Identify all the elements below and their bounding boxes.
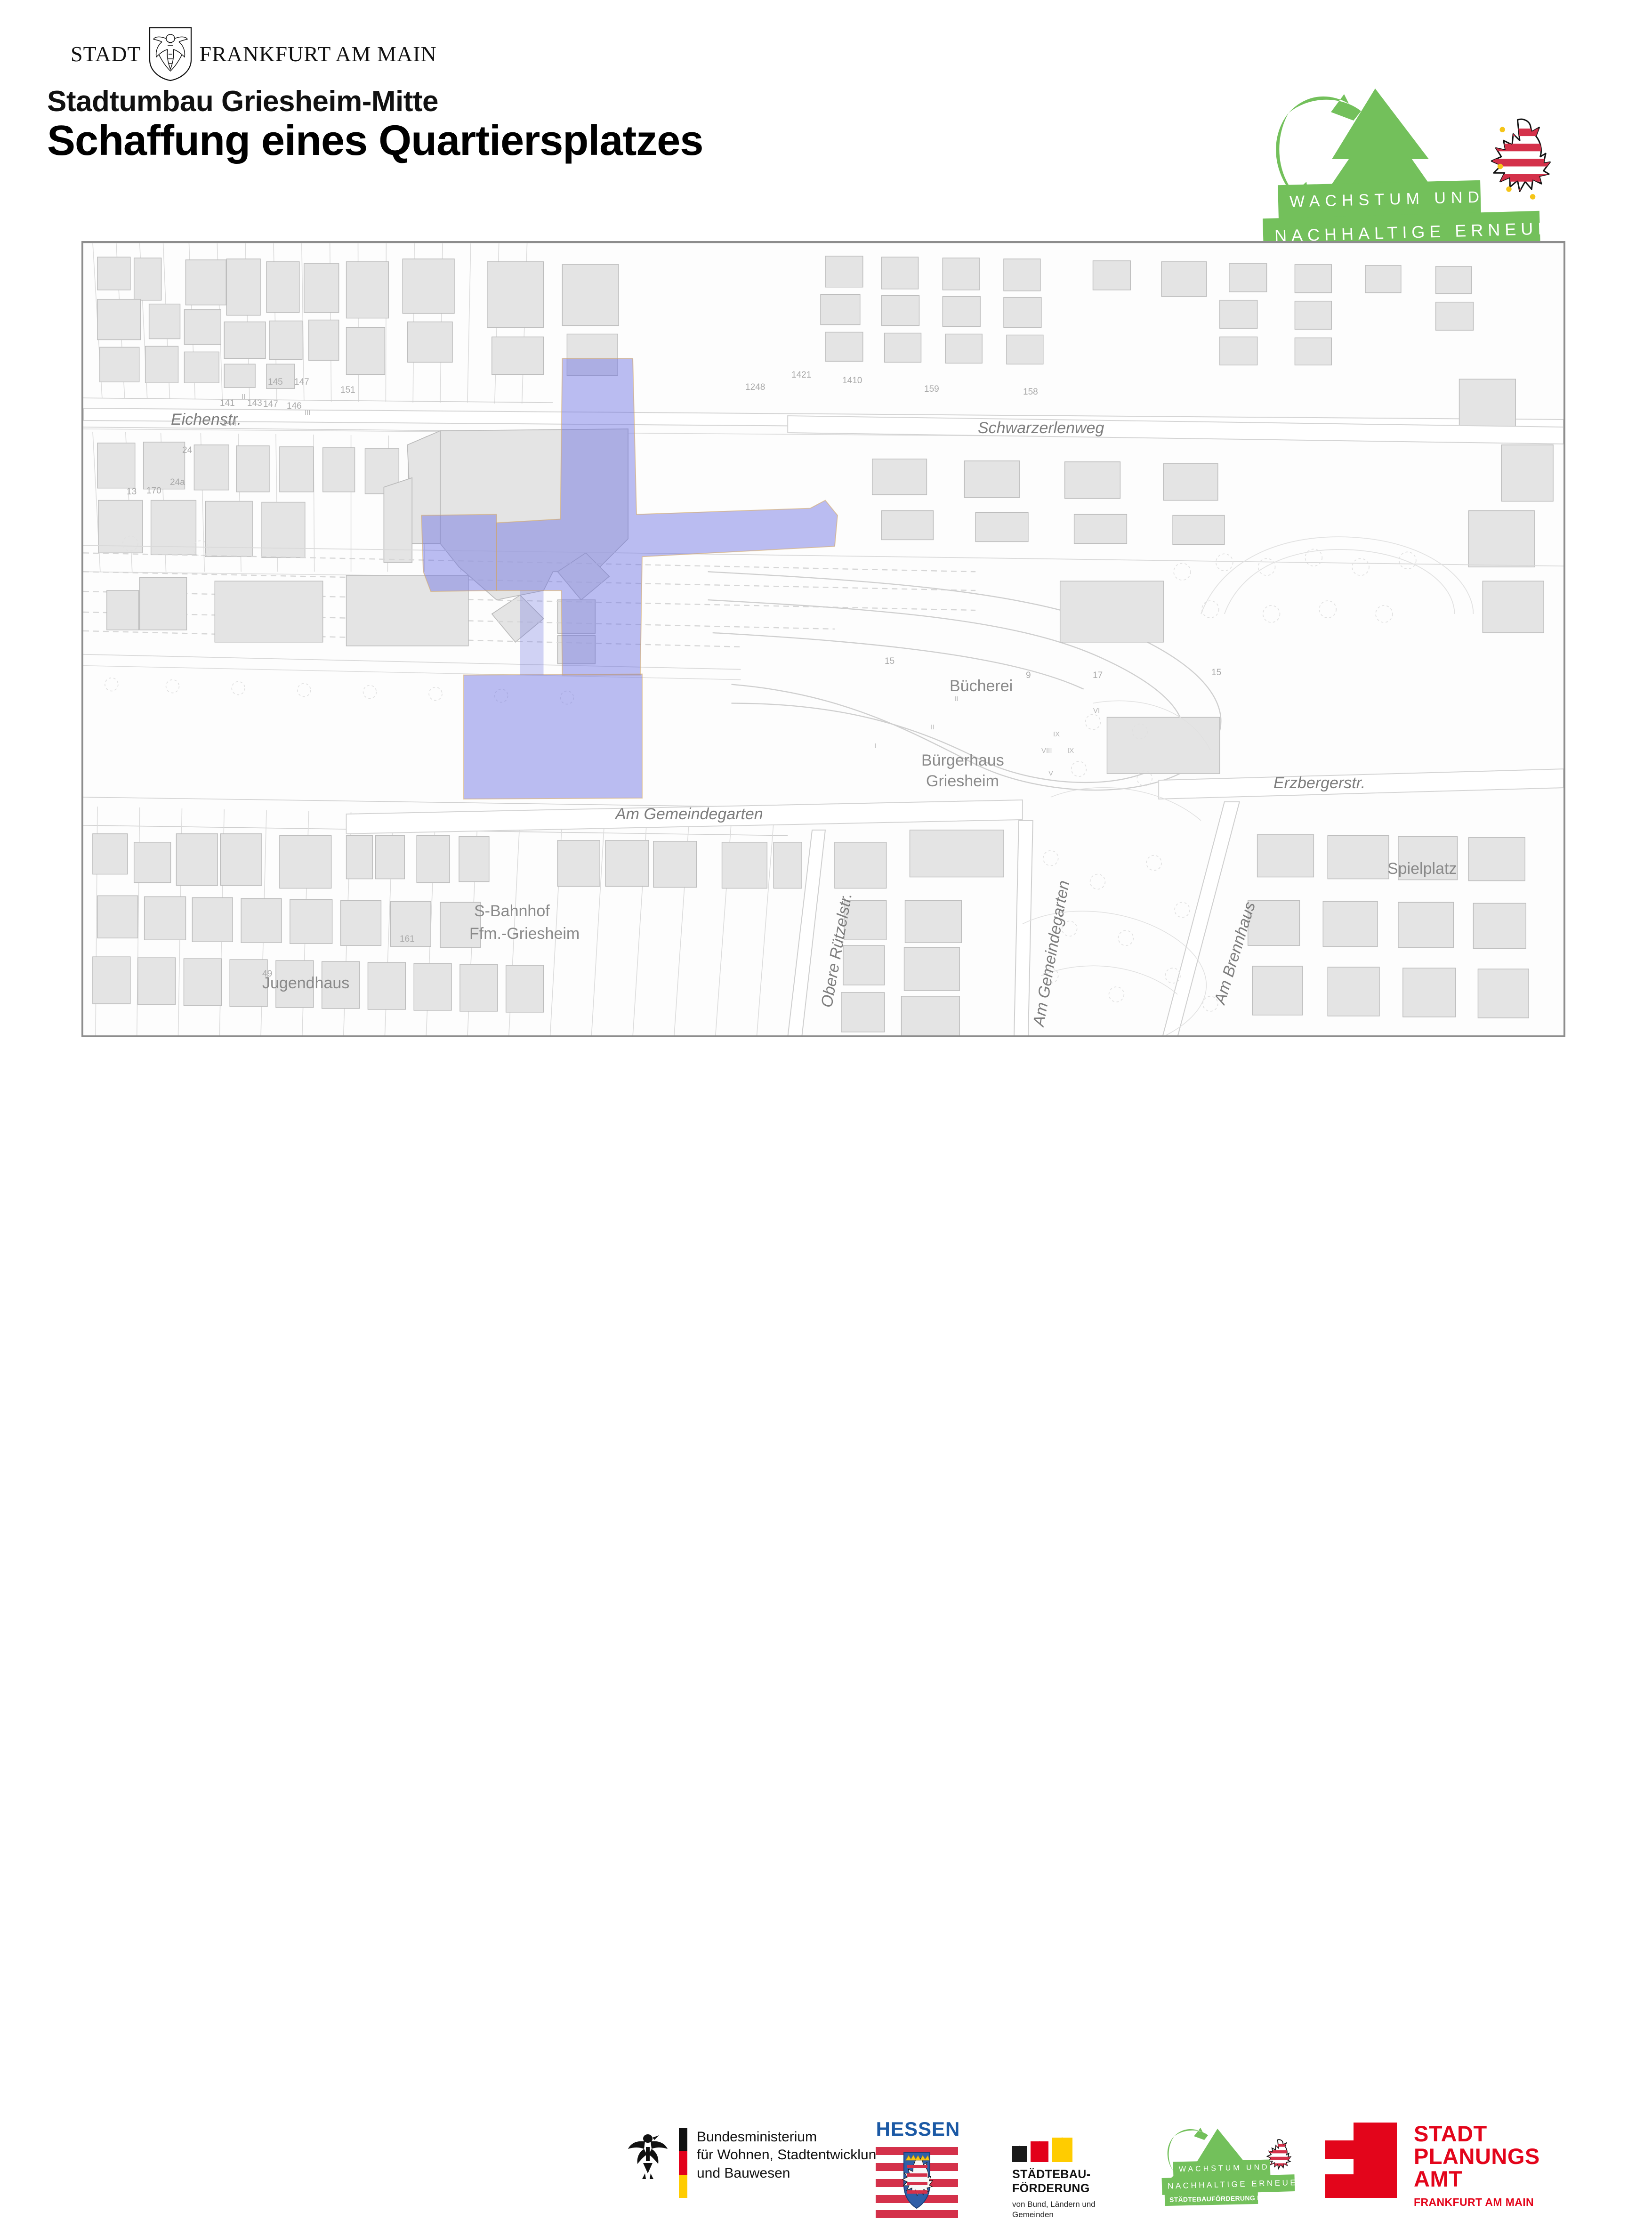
three-houses-icon	[1012, 2123, 1130, 2162]
city-logo-word-stadt: STADT	[71, 41, 141, 66]
bmwsb-logo: Bundesministerium für Wohnen, Stadtentwi…	[626, 2128, 884, 2198]
wachstum-small-line3: STÄDTEBAUFÖRDERUNG HESSEN	[1165, 2192, 1258, 2206]
staedtebau-sub2: Gemeinden	[1012, 2210, 1054, 2219]
staedtebaufoerderung-logo: STÄDTEBAU- FÖRDERUNG von Bund, Ländern u…	[1012, 2123, 1130, 2220]
bmwsb-line2: für Wohnen, Stadtentwicklung	[697, 2147, 884, 2163]
bmwsb-text: Bundesministerium für Wohnen, Stadtentwi…	[697, 2128, 884, 2182]
city-logo-word-frankfurt: FRANKFURT AM MAIN	[200, 41, 437, 66]
bmwsb-line1: Bundesministerium	[697, 2129, 817, 2145]
hessen-lion-shield-icon	[876, 2144, 958, 2217]
page-title: Schaffung eines Quartiersplatzes	[47, 117, 703, 165]
sp-line1: STADT	[1414, 2123, 1540, 2145]
staedtebau-sub1: von Bund, Ländern und	[1012, 2200, 1096, 2209]
bundesadler-icon	[626, 2128, 669, 2183]
cadastral-map[interactable]: Eichenstr. Schwarzerlenweg Erzbergerstr.…	[81, 241, 1565, 1037]
hessen-logo: HESSEN	[876, 2118, 960, 2217]
stadtplanungsamt-logo: STADT PLANUNGS AMT FRANKFURT AM MAIN	[1325, 2123, 1540, 2208]
staedtebau-line1: STÄDTEBAU-	[1012, 2168, 1091, 2181]
hessen-lion-icon	[1491, 119, 1552, 199]
frankfurt-eagle-crest-icon	[148, 26, 193, 81]
funding-logo-bar: Bundesministerium für Wohnen, Stadtentwi…	[0, 1055, 1652, 1168]
staedtebau-line2: FÖRDERUNG	[1012, 2182, 1090, 2195]
german-flag-bar	[679, 2128, 687, 2198]
hessen-label: HESSEN	[876, 2118, 960, 2140]
stadtplanungsamt-text: STADT PLANUNGS AMT FRANKFURT AM MAIN	[1414, 2123, 1540, 2208]
program-subtitle: Stadtumbau Griesheim-Mitte	[47, 85, 438, 118]
bmwsb-line3: und Bauwesen	[697, 2165, 790, 2181]
city-logo: STADT FRANKFURT AM MAIN	[71, 26, 437, 81]
stadtplanungsamt-mark-icon	[1325, 2123, 1397, 2198]
sp-line3: AMT	[1414, 2168, 1540, 2190]
sp-line2: PLANUNGS	[1414, 2145, 1540, 2168]
sp-sub: FRANKFURT AM MAIN	[1414, 2197, 1540, 2208]
wachstum-erneuerung-logo-small: WACHSTUM UND NACHHALTIGE ERNEUERUNG STÄD…	[1158, 2126, 1342, 2206]
page-header: STADT FRANKFURT AM MAIN Stadtumbau Gries…	[0, 0, 1652, 235]
